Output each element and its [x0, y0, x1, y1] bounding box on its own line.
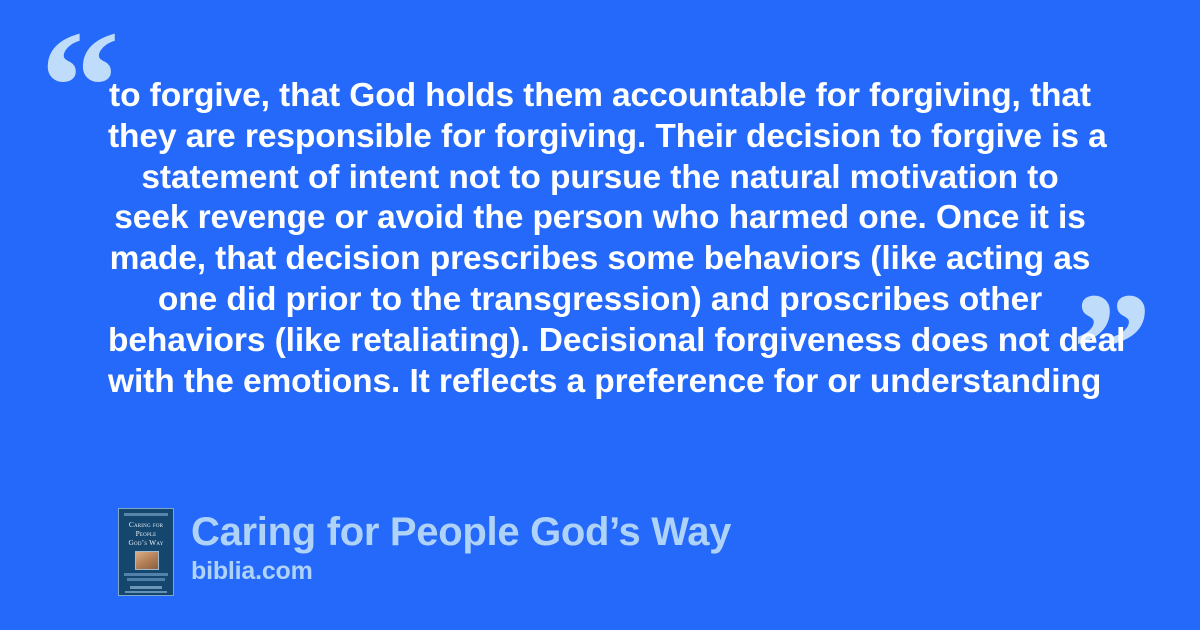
book-cover-author-rule — [130, 586, 162, 589]
quote-line: they are responsible for forgiving. Thei… — [108, 117, 1092, 158]
book-title: Caring for People God’s Way — [191, 510, 731, 554]
book-cover-subtitle-rule — [127, 578, 165, 581]
quote-line: to forgive, that God holds them accounta… — [108, 76, 1092, 117]
quote-card: “ to forgive, that God holds them accoun… — [0, 0, 1200, 630]
opening-quote-icon: “ — [40, 6, 118, 166]
quote-text: to forgive, that God holds them accounta… — [108, 76, 1092, 402]
quote-line: seek revenge or avoid the person who har… — [108, 198, 1092, 239]
quote-line: one did prior to the transgression) and … — [108, 280, 1092, 321]
book-cover-subtitle-rule — [124, 573, 168, 576]
quote-line: behaviors (like retaliating). Decisional… — [108, 321, 1092, 362]
book-cover-author-rule — [125, 591, 167, 594]
quote-line: statement of intent not to pursue the na… — [108, 158, 1092, 199]
footer-text-group: Caring for People God’s Way biblia.com — [191, 508, 731, 585]
book-cover-photo — [135, 551, 159, 570]
quote-line: made, that decision prescribes some beha… — [108, 239, 1092, 280]
book-cover-title-line: Caring for — [122, 520, 170, 529]
book-cover-title-line: God’s Way — [122, 538, 170, 547]
site-name: biblia.com — [191, 557, 731, 585]
book-cover-thumbnail: Caring for People God’s Way — [118, 508, 174, 596]
footer: Caring for People God’s Way Caring for P… — [118, 508, 731, 596]
book-cover-title-line: People — [122, 529, 170, 538]
book-cover-top-rule — [124, 513, 168, 516]
book-cover-title: Caring for People God’s Way — [122, 520, 170, 547]
quote-line: with the emotions. It reflects a prefere… — [108, 362, 1092, 403]
